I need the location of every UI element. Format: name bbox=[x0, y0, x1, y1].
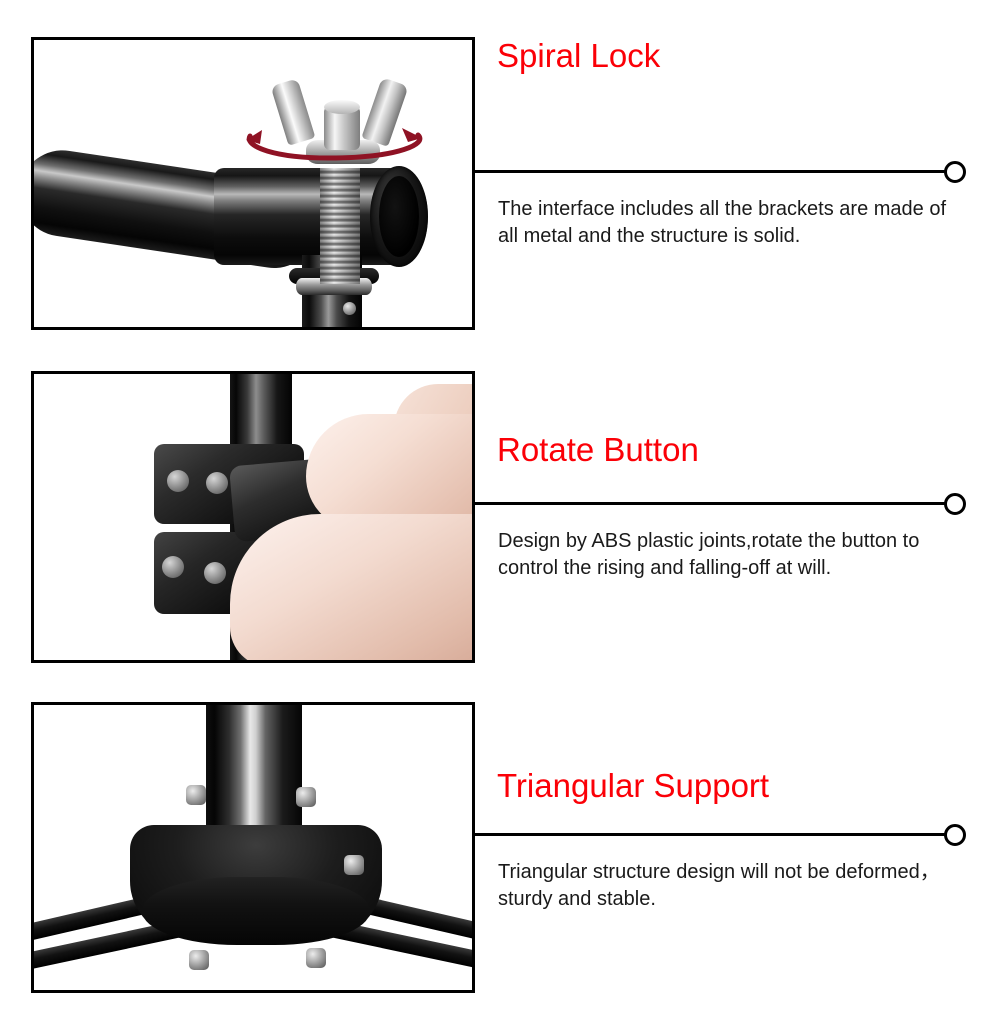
feature-photo-triangular-support bbox=[31, 702, 475, 993]
feature-photo-rotate-button bbox=[31, 371, 475, 663]
tube-bore-icon bbox=[379, 176, 419, 257]
feature-title-rotate-button: Rotate Button bbox=[497, 431, 699, 469]
feature-divider-dot-3 bbox=[944, 824, 966, 846]
hub-bolt-right-icon bbox=[344, 855, 364, 875]
photo-stage-spiral-lock bbox=[34, 40, 472, 327]
hub-bolt-bottom-left-icon bbox=[189, 950, 209, 970]
clamp-screw-1-icon bbox=[167, 470, 189, 492]
photo-stage-rotate-button bbox=[34, 374, 472, 660]
wing-nut-cap-icon bbox=[324, 100, 360, 114]
feature-description-spiral-lock: The interface includes all the brackets … bbox=[498, 196, 968, 250]
feature-row-rotate-button: Rotate Button Design by ABS plastic join… bbox=[0, 371, 1000, 663]
feature-infographic-page: Spiral Lock The interface includes all t… bbox=[0, 0, 1000, 1033]
feature-photo-spiral-lock bbox=[31, 37, 475, 330]
feature-divider-dot-2 bbox=[944, 493, 966, 515]
finger-thumb-icon bbox=[230, 514, 475, 663]
feature-row-spiral-lock: Spiral Lock The interface includes all t… bbox=[0, 37, 1000, 330]
clamp-screw-4-icon bbox=[204, 562, 226, 584]
feature-description-triangular-support: Triangular structure design will not be … bbox=[498, 859, 968, 913]
column-bolt-left-icon bbox=[186, 785, 206, 805]
hub-bolt-bottom-right-icon bbox=[306, 948, 326, 968]
feature-divider-line-2 bbox=[473, 502, 945, 505]
photo-stage-triangular-support bbox=[34, 705, 472, 990]
clamp-screw-3-icon bbox=[162, 556, 184, 578]
feature-row-triangular-support: Triangular Support Triangular structure … bbox=[0, 702, 1000, 993]
feature-divider-dot-1 bbox=[944, 161, 966, 183]
column-bolt-right-icon bbox=[296, 787, 316, 807]
hub-skirt-icon bbox=[142, 877, 370, 945]
threaded-bolt-icon bbox=[320, 168, 360, 284]
clamp-screw-2-icon bbox=[206, 472, 228, 494]
feature-title-triangular-support: Triangular Support bbox=[497, 767, 769, 805]
feature-divider-line-1 bbox=[473, 170, 945, 173]
feature-description-rotate-button: Design by ABS plastic joints,rotate the … bbox=[498, 528, 968, 582]
finger-index-icon bbox=[306, 414, 475, 530]
feature-divider-line-3 bbox=[473, 833, 945, 836]
post-screw-icon bbox=[343, 302, 356, 315]
rotation-arrow-icon bbox=[240, 114, 430, 166]
feature-title-spiral-lock: Spiral Lock bbox=[497, 37, 660, 75]
